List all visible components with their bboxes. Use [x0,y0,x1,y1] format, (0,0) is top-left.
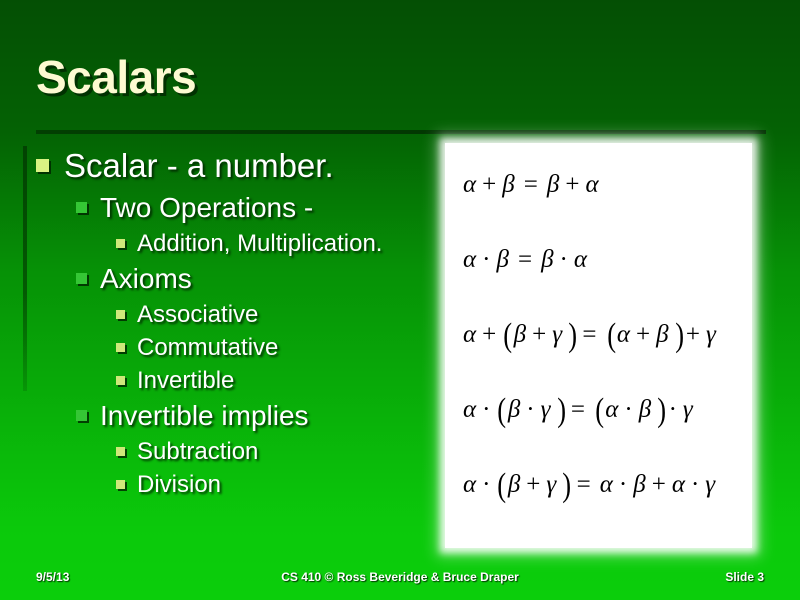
equation-token: β [656,321,668,348]
equation-token: α [585,171,598,198]
equation-token: + [564,171,580,198]
bullet-label: Associative [137,299,258,331]
equation-token: γ [706,321,716,348]
bullet-item-l3: Subtraction [116,436,448,468]
equation-associative-multiplication: α · (β · γ )= (α · β )· γ [463,390,752,465]
footer-attribution: CS 410 © Ross Beveridge & Bruce Draper [0,570,800,584]
equation-token: α [605,396,618,423]
equation-token: · [690,471,700,498]
equation-token: ( [595,391,604,431]
bullet-list: Scalar - a number.Two Operations -Additi… [28,146,448,502]
equation-token: ( [498,466,507,506]
equation-token: α [672,471,685,498]
equation-token: + [685,321,701,348]
bullet-item-l3: Division [116,469,448,501]
equation-token: α [463,471,476,498]
equation-panel: α + β = β + α α · β = β · α α + (β + γ )… [445,143,752,548]
bullet-square-icon [116,376,125,385]
equation-list: α + β = β + α α · β = β · α α + (β + γ )… [445,143,752,548]
equation-distributive: α · (β + γ )= α · β + α · γ [463,465,752,540]
equation-token: γ [705,471,715,498]
equation-token: β [639,396,651,423]
bullet-item-l1: Scalar - a number. [36,146,448,186]
equation-commutative-multiplication: α · β = β · α [463,240,752,315]
equation-token: α [574,246,587,273]
equation-token: · [668,396,678,423]
page-title: Scalars [36,50,196,104]
equation-token: · [618,471,628,498]
bullet-item-l3: Invertible [116,365,448,397]
bullet-square-icon [116,447,125,456]
equation-token: β [541,246,553,273]
equation-token: ) [568,316,577,356]
equation-token: β [514,321,526,348]
equation-token: ( [607,316,616,356]
equation-token: α [617,321,630,348]
bullet-label: Axioms [100,261,192,297]
bullet-label: Invertible implies [100,398,309,434]
left-accent-rule [23,146,27,391]
equation-token: α [463,171,476,198]
bullet-label: Scalar - a number. [64,146,334,186]
equation-token: β [508,471,520,498]
equation-token: ) [675,316,684,356]
equation-token: = [520,171,542,198]
bullet-square-icon [116,239,125,248]
equation-token: γ [552,321,562,348]
bullet-item-l2: Axioms [76,261,448,297]
equation-token: = [514,246,536,273]
bullet-label: Addition, Multiplication. [137,228,382,260]
equation-token: β [508,396,520,423]
slide-footer: 9/5/13 CS 410 © Ross Beveridge & Bruce D… [0,558,800,600]
equation-token: α [463,246,476,273]
equation-token: γ [541,396,551,423]
bullet-square-icon [116,343,125,352]
equation-token: · [525,396,535,423]
bullet-label: Subtraction [137,436,258,468]
equation-token: · [481,396,491,423]
equation-commutative-addition: α + β = β + α [463,165,752,240]
bullet-item-l3: Associative [116,299,448,331]
bullet-label: Two Operations - [100,190,313,226]
bullet-square-icon [76,410,87,421]
bullet-item-l2: Invertible implies [76,398,448,434]
equation-token: · [481,246,491,273]
equation-token: ( [504,316,513,356]
equation-token: β [502,171,514,198]
equation-token: α [463,321,476,348]
equation-token: = [578,321,600,348]
bullet-label: Commutative [137,332,278,364]
equation-associative-addition: α + (β + γ )= (α + β )+ γ [463,315,752,390]
footer-slide-number: Slide 3 [725,570,764,584]
equation-token: = [567,396,589,423]
bullet-square-icon [116,480,125,489]
equation-token: ( [498,391,507,431]
bullet-item-l3: Addition, Multiplication. [116,228,448,260]
bullet-item-l3: Commutative [116,332,448,364]
bullet-square-icon [76,202,87,213]
equation-token: γ [683,396,693,423]
equation-token: β [633,471,645,498]
equation-token: + [635,321,651,348]
bullet-square-icon [36,159,49,172]
bullet-label: Division [137,469,221,501]
equation-token: ) [563,466,572,506]
equation-token: · [481,471,491,498]
equation-token: ) [657,391,666,431]
bullet-item-l2: Two Operations - [76,190,448,226]
equation-token: · [559,246,569,273]
equation-token: = [573,471,595,498]
equation-token: + [481,321,497,348]
bullet-square-icon [116,310,125,319]
equation-token: ) [557,391,566,431]
title-divider [36,130,766,134]
bullet-label: Invertible [137,365,234,397]
equation-token: + [525,471,541,498]
slide: Scalars Scalar - a number.Two Operations… [0,0,800,600]
equation-token: + [651,471,667,498]
bullet-square-icon [76,273,87,284]
equation-token: + [481,171,497,198]
equation-token: γ [546,471,556,498]
equation-token: + [531,321,547,348]
equation-token: α [463,396,476,423]
equation-token: β [496,246,508,273]
equation-token: · [623,396,633,423]
equation-token: β [547,171,559,198]
equation-token: α [600,471,613,498]
